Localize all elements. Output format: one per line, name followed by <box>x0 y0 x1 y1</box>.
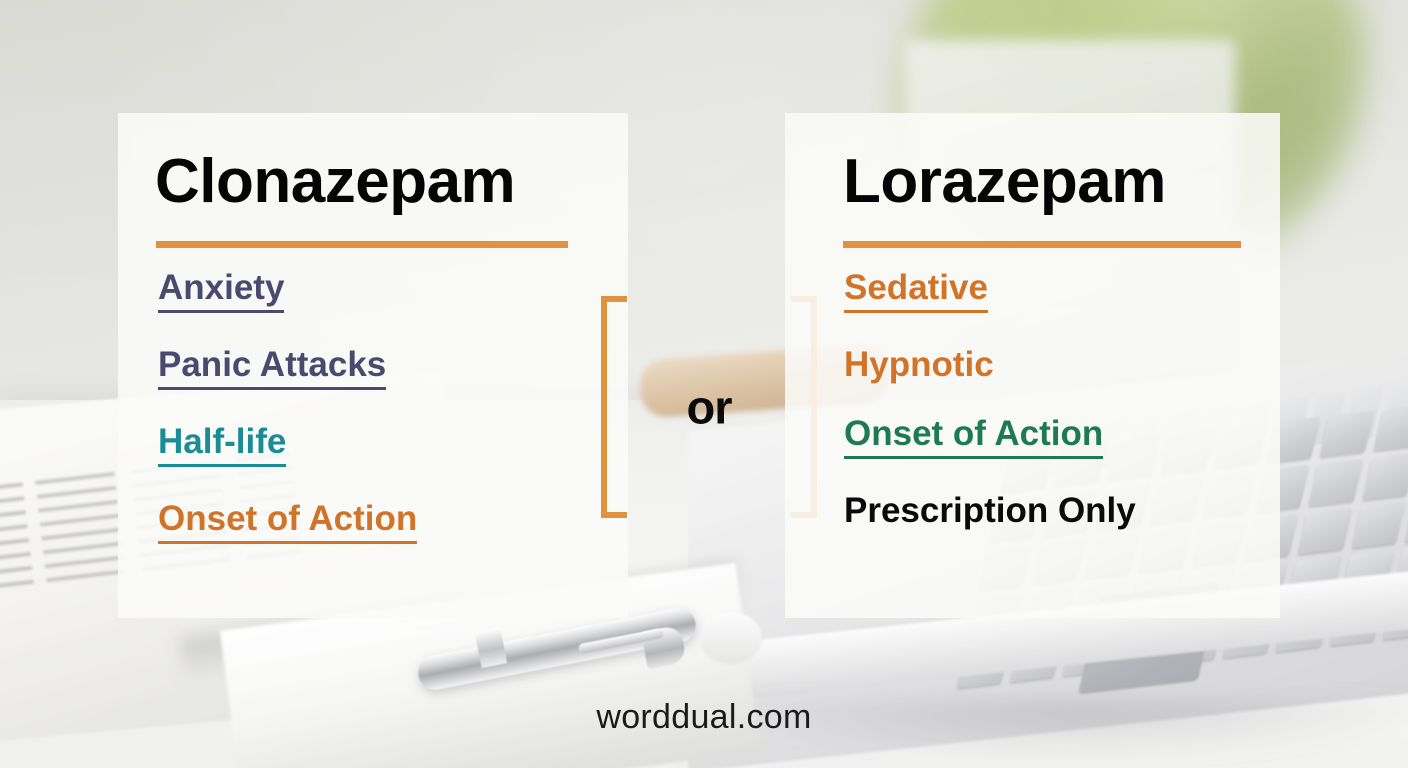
list-item-panic-attacks[interactable]: Panic Attacks <box>158 347 386 390</box>
infographic-canvas: Clonazepam Anxiety Panic Attacks Half-li… <box>0 0 1408 768</box>
list-item-onset-of-action[interactable]: Onset of Action <box>844 416 1103 459</box>
list-item-prescription-only[interactable]: Prescription Only <box>844 493 1136 528</box>
card-title-lorazepam: Lorazepam <box>843 151 1280 213</box>
list-item-hypnotic[interactable]: Hypnotic <box>844 347 994 382</box>
list-item-sedative[interactable]: Sedative <box>844 270 988 313</box>
comparison-card-clonazepam: Clonazepam Anxiety Panic Attacks Half-li… <box>118 113 628 618</box>
card-title-clonazepam: Clonazepam <box>155 151 628 213</box>
attribute-list-clonazepam: Anxiety Panic Attacks Half-life Onset of… <box>158 270 628 544</box>
site-url-watermark: worddual.com <box>0 698 1408 737</box>
round-object-image <box>700 612 762 664</box>
title-divider-rule <box>843 241 1241 248</box>
list-item-anxiety[interactable]: Anxiety <box>158 270 284 313</box>
list-item-half-life[interactable]: Half-life <box>158 424 286 467</box>
list-item-onset-of-action[interactable]: Onset of Action <box>158 501 417 544</box>
title-divider-rule <box>156 241 568 248</box>
attribute-list-lorazepam: Sedative Hypnotic Onset of Action Prescr… <box>844 270 1280 528</box>
comparison-card-lorazepam: Lorazepam Sedative Hypnotic Onset of Act… <box>785 113 1280 618</box>
